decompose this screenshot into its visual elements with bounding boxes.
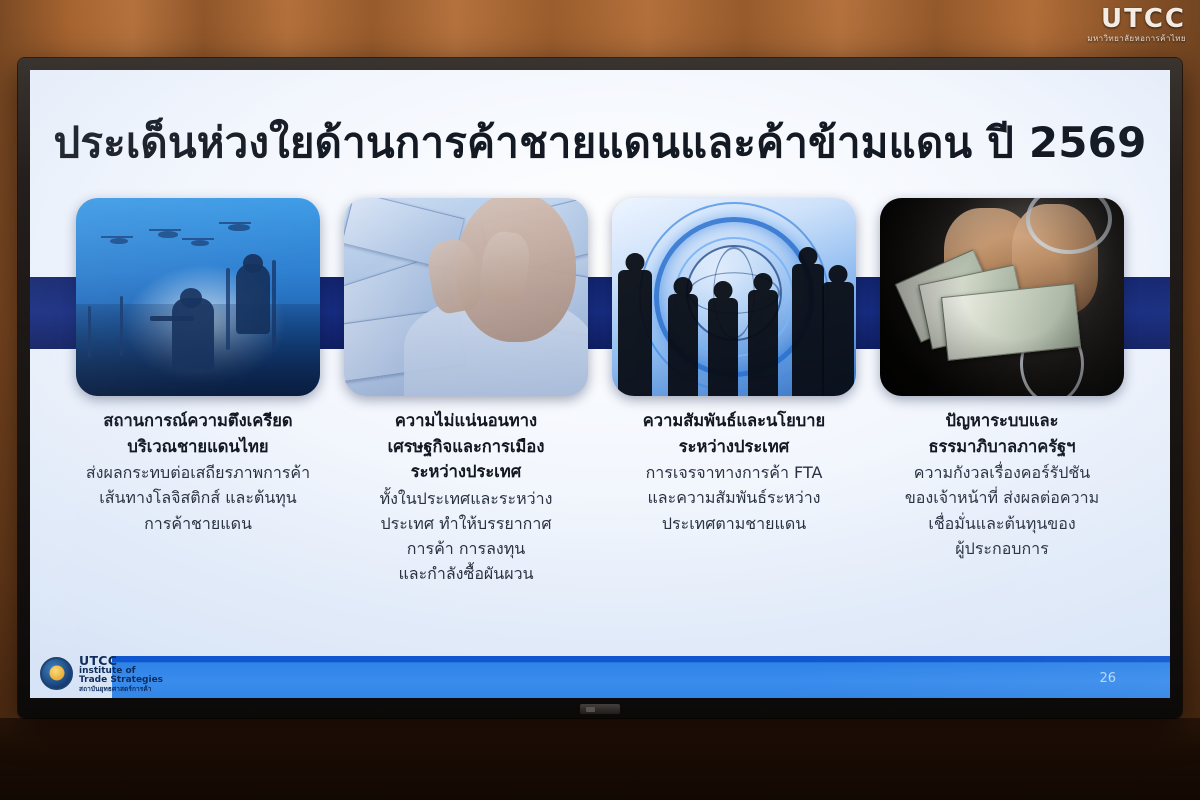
border-conflict-photo <box>76 198 320 396</box>
photo-vignette <box>880 198 1124 396</box>
person-silhouette <box>618 270 652 396</box>
caption-body-line: การเจรจาทางการค้า FTA <box>606 460 862 485</box>
institute-footer-text: UTCC institute of Trade Strategies สถาบั… <box>79 654 163 693</box>
caption-body: ส่งผลกระทบต่อเสถียรภาพการค้า เส้นทางโลจิ… <box>70 460 326 536</box>
person-head <box>243 254 263 273</box>
helicopter-icon <box>110 238 128 244</box>
corruption-cash-photo <box>880 198 1124 396</box>
caption-heading-line: ปัญหาระบบและ <box>874 408 1130 434</box>
caption-body-line: ส่งผลกระทบต่อเสถียรภาพการค้า <box>70 460 326 485</box>
caption-body-line: ทั้งในประเทศและระหว่าง <box>338 486 594 511</box>
helicopter-icon <box>228 224 250 231</box>
helicopter-icon <box>191 240 209 246</box>
caption-body: ความกังวลเรื่องคอร์รัปชัน ของเจ้าหน้าที่… <box>874 460 1130 561</box>
caption-column-1: สถานการณ์ความตึงเครียด บริเวณชายแดนไทย ส… <box>70 408 326 587</box>
screenshot-root: UTCC มหาวิทยาลัยหอการค้าไทย ประเด็นห่วงใ… <box>0 0 1200 800</box>
display-bezel: ประเด็นห่วงใยด้านการค้าชายแดนและค้าข้ามแ… <box>18 58 1182 718</box>
caption-body-line: และกำลังซื้อผันผวน <box>338 561 594 586</box>
display-brand-badge <box>580 704 620 714</box>
caption-heading-line: ความไม่แน่นอนทาง <box>338 408 594 434</box>
institute-logo-line4: สถาบันยุทธศาสตร์การค้า <box>79 686 163 693</box>
tree-silhouette <box>272 260 276 352</box>
soldier-head <box>180 288 202 308</box>
caption-body-line: การค้าชายแดน <box>70 511 326 536</box>
caption-heading-line: ความสัมพันธ์และนโยบาย <box>606 408 862 434</box>
caption-body-line: การค้า การลงทุน <box>338 536 594 561</box>
slide-footer-bar: 26 <box>112 656 1170 698</box>
caption-body-line: ผู้ประกอบการ <box>874 536 1130 561</box>
caption-body-line: ประเทศ ทำให้บรรยากาศ <box>338 511 594 536</box>
tree-silhouette <box>226 268 230 350</box>
caption-column-2: ความไม่แน่นอนทาง เศรษฐกิจและการเมือง ระห… <box>338 408 594 587</box>
utcc-wall-logo: UTCC มหาวิทยาลัยหอการค้าไทย <box>1087 6 1186 43</box>
university-seal-icon <box>40 657 73 690</box>
utcc-wall-logo-thai-name: มหาวิทยาลัยหอการค้าไทย <box>1087 35 1186 43</box>
rifle-silhouette <box>150 316 194 321</box>
caption-heading: ปัญหาระบบและ ธรรมาภิบาลภาครัฐฯ <box>874 408 1130 459</box>
utcc-wall-logo-name: UTCC <box>1087 6 1186 32</box>
caption-body-line: ของเจ้าหน้าที่ ส่งผลต่อความ <box>874 485 1130 510</box>
presentation-slide: ประเด็นห่วงใยด้านการค้าชายแดนและค้าข้ามแ… <box>30 70 1170 698</box>
photo-row <box>76 198 1124 396</box>
caption-body: การเจรจาทางการค้า FTA และความสัมพันธ์ระห… <box>606 460 862 536</box>
caption-heading-line: เศรษฐกิจและการเมือง <box>338 434 594 460</box>
caption-body-line: ความกังวลเรื่องคอร์รัปชัน <box>874 460 1130 485</box>
helicopter-icon <box>158 231 178 238</box>
caption-heading-line: ระหว่างประเทศ <box>338 459 594 485</box>
global-business-photo <box>612 198 856 396</box>
caption-body-line: เชื่อมั่นและต้นทุนของ <box>874 511 1130 536</box>
caption-heading-line: ธรรมาภิบาลภาครัฐฯ <box>874 434 1130 460</box>
person-silhouette <box>822 282 854 396</box>
soldier-silhouette <box>172 298 214 370</box>
person-silhouette <box>708 298 738 396</box>
person-silhouette <box>748 290 778 396</box>
caption-body: ทั้งในประเทศและระหว่าง ประเทศ ทำให้บรรยา… <box>338 486 594 587</box>
caption-heading-line: บริเวณชายแดนไทย <box>70 434 326 460</box>
person-silhouette <box>236 264 270 334</box>
caption-column-4: ปัญหาระบบและ ธรรมาภิบาลภาครัฐฯ ความกังวล… <box>874 408 1130 587</box>
wall-lower-shadow <box>0 718 1200 800</box>
caption-heading: สถานการณ์ความตึงเครียด บริเวณชายแดนไทย <box>70 408 326 459</box>
caption-column-3: ความสัมพันธ์และนโยบาย ระหว่างประเทศ การเ… <box>606 408 862 587</box>
economic-stress-photo <box>344 198 588 396</box>
slide-title: ประเด็นห่วงใยด้านการค้าชายแดนและค้าข้ามแ… <box>30 110 1170 176</box>
page-number: 26 <box>1099 671 1116 686</box>
caption-heading-line: สถานการณ์ความตึงเครียด <box>70 408 326 434</box>
caption-body-line: และความสัมพันธ์ระหว่าง <box>606 485 862 510</box>
caption-heading: ความไม่แน่นอนทาง เศรษฐกิจและการเมือง ระห… <box>338 408 594 485</box>
caption-row: สถานการณ์ความตึงเครียด บริเวณชายแดนไทย ส… <box>70 408 1130 587</box>
tree-silhouette <box>88 306 91 358</box>
caption-heading: ความสัมพันธ์และนโยบาย ระหว่างประเทศ <box>606 408 862 459</box>
caption-body-line: เส้นทางโลจิสติกส์ และต้นทุน <box>70 485 326 510</box>
photo-tint <box>344 198 588 396</box>
person-silhouette <box>792 264 824 396</box>
person-silhouette <box>668 294 698 396</box>
caption-body-line: ประเทศตามชายแดน <box>606 511 862 536</box>
institute-logo-line1: UTCC <box>79 654 163 667</box>
caption-heading-line: ระหว่างประเทศ <box>606 434 862 460</box>
tree-silhouette <box>120 296 123 356</box>
institute-footer-logo: UTCC institute of Trade Strategies สถาบั… <box>40 650 180 696</box>
